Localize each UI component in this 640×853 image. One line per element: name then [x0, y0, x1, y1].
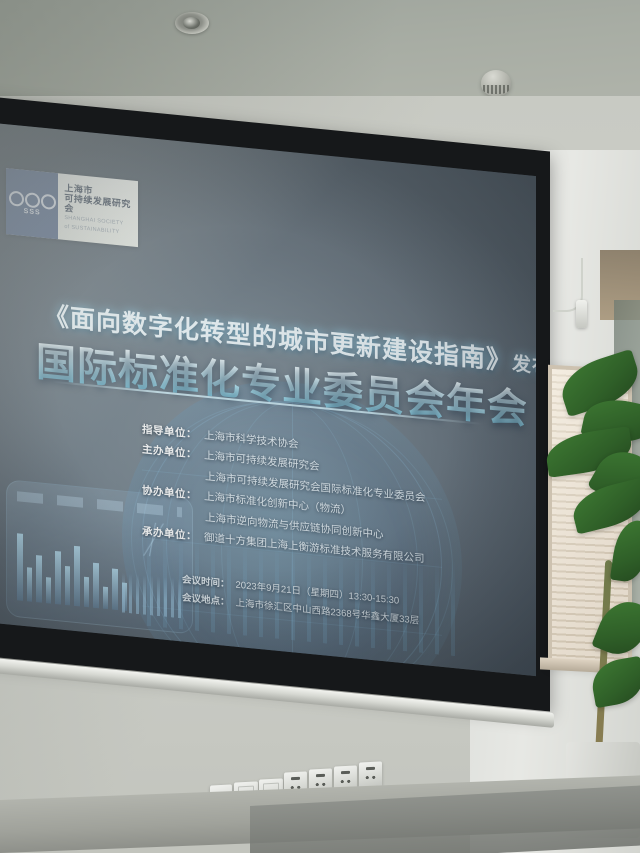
presentation-slide: SSS 上海市 可持续发展研究会 SHANGHAI SOCIETY of SUS…	[0, 123, 536, 676]
room-scene: SSS 上海市 可持续发展研究会 SHANGHAI SOCIETY of SUS…	[0, 0, 640, 853]
screen-remote-icon[interactable]	[576, 300, 587, 328]
logo-mark-text: SSS	[24, 207, 41, 216]
smoke-detector-icon	[481, 70, 511, 96]
organization-logo: SSS 上海市 可持续发展研究会 SHANGHAI SOCIETY of SUS…	[6, 168, 138, 247]
slide-title-line1-suffix: 发布	[512, 354, 536, 379]
sss-infinity-icon: SSS	[6, 168, 58, 239]
screen-surface: SSS 上海市 可持续发展研究会 SHANGHAI SOCIETY of SUS…	[0, 123, 536, 676]
projection-screen[interactable]: SSS 上海市 可持续发展研究会 SHANGHAI SOCIETY of SUS…	[0, 96, 550, 711]
ceiling-spotlight-icon	[175, 12, 209, 34]
